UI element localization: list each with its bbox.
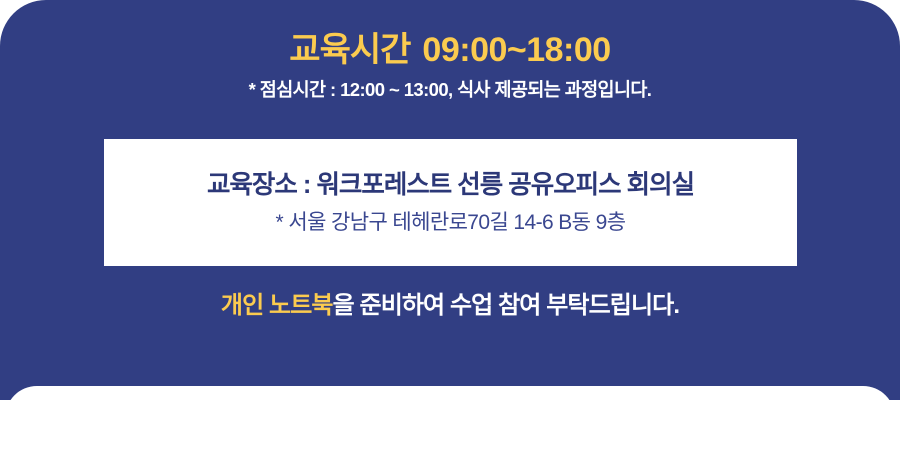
venue-title: 교육장소 : 워크포레스트 선릉 공유오피스 회의실 xyxy=(207,168,694,202)
venue-address: * 서울 강남구 테헤란로70길 14-6 B동 9층 xyxy=(276,209,626,237)
training-time-title: 교육시간09:00~18:00 xyxy=(0,29,900,71)
schedule-poster: 교육시간09:00~18:00 * 점심시간 : 12:00 ~ 13:00, … xyxy=(0,0,900,450)
lunch-break-note: * 점심시간 : 12:00 ~ 13:00, 식사 제공되는 과정입니다. xyxy=(0,77,900,103)
laptop-notice-highlight: 개인 노트북 xyxy=(221,292,333,319)
laptop-notice-rest: 을 준비하여 수업 참여 부탁드립니다. xyxy=(333,292,680,319)
bottom-panel xyxy=(5,386,895,450)
laptop-notice: 개인 노트북을 준비하여 수업 참여 부탁드립니다. xyxy=(0,289,900,323)
venue-box: 교육장소 : 워크포레스트 선릉 공유오피스 회의실 * 서울 강남구 테헤란로… xyxy=(104,139,797,266)
training-time-range: 09:00~18:00 xyxy=(422,31,610,69)
heading-block: 교육시간09:00~18:00 * 점심시간 : 12:00 ~ 13:00, … xyxy=(0,29,900,103)
info-card: 교육시간09:00~18:00 * 점심시간 : 12:00 ~ 13:00, … xyxy=(0,0,900,400)
training-time-label: 교육시간 xyxy=(289,31,410,69)
